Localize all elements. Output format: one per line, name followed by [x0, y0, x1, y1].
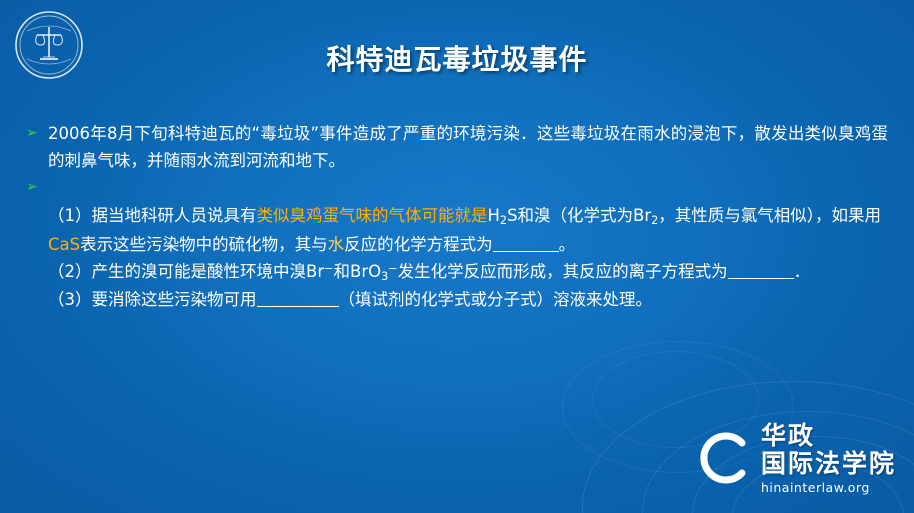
q2-part-1: （2）产生的溴可能是酸性环境中溴Br — [48, 262, 324, 281]
q2-sup-minus-2: − — [388, 262, 397, 275]
logo-text: 华政 国际法学院 hinainterlaw.org — [761, 422, 896, 495]
q1-highlight-gas: 类似臭鸡蛋气味的气体可能就是 — [257, 206, 488, 225]
question-1: （1）据当地科研人员说具有类似臭鸡蛋气味的气体可能就是H2S和溴（化学式为Br2… — [48, 202, 888, 258]
q2-part-3: 和BrO — [334, 262, 382, 281]
slide-body: ➢ 2006年8月下旬科特迪瓦的“毒垃圾”事件造成了严重的环境污染．这些毒垃圾在… — [26, 120, 888, 313]
q1-highlight-cas: CaS — [48, 235, 80, 254]
q1-part-9: 表示这些污染物中的硫化物，其与 — [80, 235, 328, 254]
q1-highlight-water: 水 — [328, 235, 345, 254]
q1-answer-blank[interactable] — [493, 235, 559, 252]
question-3: （3）要消除这些污染物可用（填试剂的化学式或分子式）溶液来处理。 — [48, 286, 888, 313]
logo-line-1: 华政 — [761, 422, 896, 450]
slide-title: 科特迪瓦毒垃圾事件 — [0, 38, 914, 78]
q1-part-3: H — [488, 206, 500, 225]
bullet-text: 2006年8月下旬科特迪瓦的“毒垃圾”事件造成了严重的环境污染．这些毒垃圾在雨水… — [48, 120, 888, 174]
institute-logo: 华政 国际法学院 hinainterlaw.org — [695, 419, 896, 497]
bullet-marker-icon: ➢ — [26, 174, 48, 201]
logo-url: hinainterlaw.org — [761, 480, 896, 495]
q1-part-7: ，其性质与氯气相似），如果用 — [658, 206, 881, 225]
q2-part-8: ． — [794, 262, 811, 281]
bullet-item: ➢ 2006年8月下旬科特迪瓦的“毒垃圾”事件造成了严重的环境污染．这些毒垃圾在… — [26, 120, 888, 174]
q2-answer-blank[interactable] — [728, 262, 794, 279]
q2-sup-minus-1: − — [324, 262, 333, 275]
logo-c-icon — [695, 429, 753, 487]
q2-part-6: 发生化学反应而形成，其反应的离子方程式为 — [398, 262, 728, 281]
question-list: （1）据当地科研人员说具有类似臭鸡蛋气味的气体可能就是H2S和溴（化学式为Br2… — [48, 202, 888, 313]
q3-part-1: （3）要消除这些污染物可用 — [48, 290, 257, 309]
q1-sub-2: 2 — [500, 214, 507, 227]
logo-line-2: 国际法学院 — [761, 450, 896, 478]
slide: 科特迪瓦毒垃圾事件 ➢ 2006年8月下旬科特迪瓦的“毒垃圾”事件造成了严重的环… — [0, 0, 914, 513]
question-2: （2）产生的溴可能是酸性环境中溴Br−和BrO3−发生化学反应而形成，其反应的离… — [48, 258, 888, 286]
q1-part-13: 。 — [559, 235, 576, 254]
q3-answer-blank[interactable] — [257, 291, 339, 308]
q1-part-1: （1）据当地科研人员说具有 — [48, 206, 257, 225]
q3-part-3: （填试剂的化学式或分子式）溶液来处理。 — [339, 290, 653, 309]
bullet-marker-icon: ➢ — [26, 120, 48, 147]
q1-part-11: 反应的化学方程式为 — [344, 235, 493, 254]
bullet-item-empty: ➢ — [26, 174, 888, 200]
q1-part-5: S和溴（化学式为Br — [507, 206, 651, 225]
